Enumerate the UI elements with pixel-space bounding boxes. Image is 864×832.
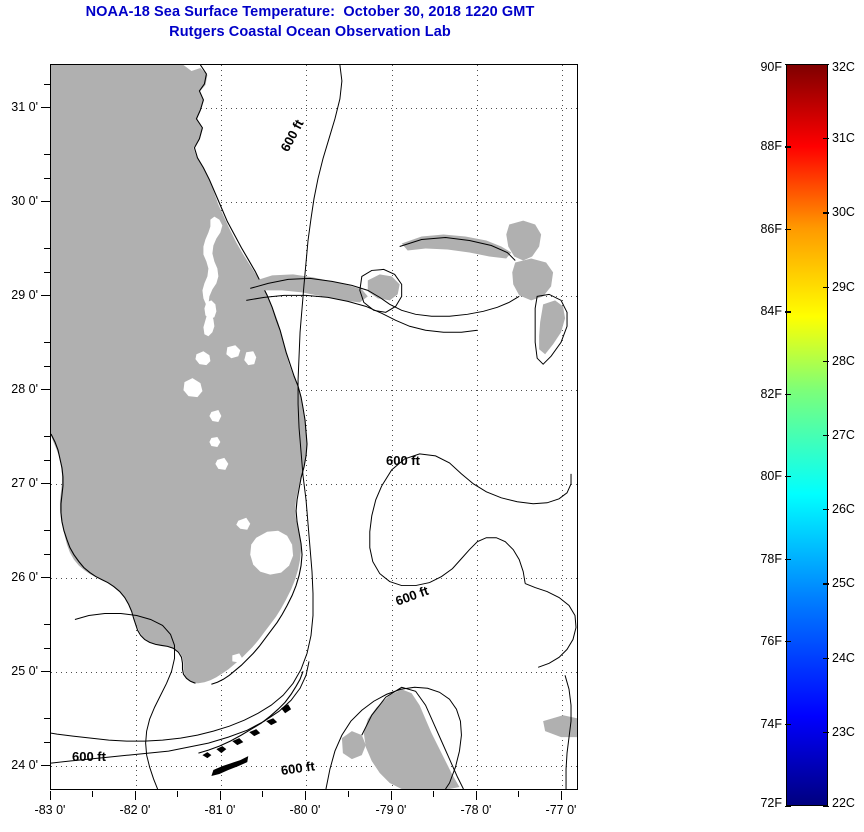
contour-600ft-bahama-east-loop bbox=[525, 584, 576, 668]
colorbar-tick-right bbox=[823, 583, 829, 584]
colorbar-tick-right bbox=[823, 361, 829, 362]
florida-landmass bbox=[51, 65, 307, 683]
colorbar-tick-left bbox=[785, 559, 791, 560]
y-axis-minor-tick bbox=[44, 84, 50, 85]
y-axis-label: 27 0' bbox=[0, 476, 38, 490]
y-axis-minor-tick bbox=[44, 554, 50, 555]
colorbar-tick-right bbox=[823, 138, 829, 139]
colorbar-label-c: 32C bbox=[832, 60, 855, 74]
y-axis-minor-tick bbox=[44, 648, 50, 649]
colorbar-label-f: 80F bbox=[760, 469, 782, 483]
contour-600ft-keys bbox=[51, 661, 309, 763]
y-axis-tick bbox=[41, 389, 50, 390]
x-axis-tick bbox=[220, 791, 221, 800]
contour-label-600ft: 600 ft bbox=[72, 749, 106, 764]
colorbar-label-c: 24C bbox=[832, 651, 855, 665]
colorbar-label-c: 31C bbox=[832, 131, 855, 145]
colorbar-tick-right bbox=[823, 806, 829, 807]
contour-600ft-bahama-west bbox=[370, 486, 525, 586]
x-axis-label: -79 0' bbox=[376, 803, 407, 817]
y-axis-label: 31 0' bbox=[0, 100, 38, 114]
x-axis-label: -82 0' bbox=[120, 803, 151, 817]
colorbar-tick-left bbox=[785, 64, 791, 65]
colorbar-label-c: 25C bbox=[832, 576, 855, 590]
x-axis-label: -80 0' bbox=[290, 803, 321, 817]
geography-layer bbox=[51, 65, 577, 789]
chart-title: NOAA-18 Sea Surface Temperature: October… bbox=[0, 2, 620, 42]
colorbar-label-f: 74F bbox=[760, 717, 782, 731]
colorbar-label-f: 76F bbox=[760, 634, 782, 648]
map-canvas bbox=[51, 65, 577, 789]
colorbar-tick-right bbox=[823, 658, 829, 659]
y-axis-minor-tick bbox=[44, 366, 50, 367]
colorbar-label-c: 27C bbox=[832, 428, 855, 442]
y-axis-label: 24 0' bbox=[0, 758, 38, 772]
y-axis-minor-tick bbox=[44, 624, 50, 625]
x-axis-minor-tick bbox=[92, 791, 93, 797]
colorbar-label-c: 29C bbox=[832, 280, 855, 294]
x-axis-minor-tick bbox=[433, 791, 434, 797]
colorbar-tick-left bbox=[785, 476, 791, 477]
title-line-1: NOAA-18 Sea Surface Temperature: October… bbox=[0, 2, 620, 22]
y-axis-minor-tick bbox=[44, 178, 50, 179]
colorbar-label-c: 28C bbox=[832, 354, 855, 368]
colorbar-tick-right bbox=[823, 64, 829, 65]
colorbar-tick-right bbox=[823, 509, 829, 510]
colorbar-tick-left bbox=[785, 229, 791, 230]
colorbar-tick-right bbox=[823, 287, 829, 288]
y-axis-label: 25 0' bbox=[0, 664, 38, 678]
colorbar-label-f: 86F bbox=[760, 222, 782, 236]
x-axis-tick bbox=[305, 791, 306, 800]
colorbar-tick-left bbox=[785, 394, 791, 395]
title-line-2: Rutgers Coastal Ocean Observation Lab bbox=[0, 22, 620, 42]
colorbar-label-c: 23C bbox=[832, 725, 855, 739]
y-axis-label: 29 0' bbox=[0, 288, 38, 302]
colorbar-label-c: 26C bbox=[832, 502, 855, 516]
new-providence bbox=[512, 258, 553, 300]
contour-label-600ft: 600 ft bbox=[386, 453, 420, 468]
y-axis-label: 26 0' bbox=[0, 570, 38, 584]
colorbar-label-c: 22C bbox=[832, 796, 855, 810]
colorbar-label-f: 88F bbox=[760, 139, 782, 153]
abaco-island bbox=[506, 221, 541, 261]
colorbar-tick-left bbox=[785, 724, 791, 725]
colorbar-tick-right bbox=[823, 435, 829, 436]
y-axis-tick bbox=[41, 577, 50, 578]
colorbar-label-f: 72F bbox=[760, 796, 782, 810]
y-axis-minor-tick bbox=[44, 272, 50, 273]
x-axis-minor-tick bbox=[262, 791, 263, 797]
y-axis-minor-tick bbox=[44, 436, 50, 437]
x-axis-label: -77 0' bbox=[546, 803, 577, 817]
y-axis-minor-tick bbox=[44, 248, 50, 249]
colorbar-tick-left bbox=[785, 806, 791, 807]
keys-scatter-detail bbox=[211, 756, 248, 776]
y-axis-tick bbox=[41, 671, 50, 672]
x-axis-tick bbox=[561, 791, 562, 800]
y-axis-minor-tick bbox=[44, 154, 50, 155]
y-axis-tick bbox=[41, 107, 50, 108]
colorbar-label-f: 84F bbox=[760, 304, 782, 318]
y-axis-tick bbox=[41, 201, 50, 202]
colorbar-tick-right bbox=[823, 732, 829, 733]
colorbar-tick-left bbox=[785, 311, 791, 312]
map-plot-area[interactable] bbox=[50, 64, 578, 790]
x-axis-tick bbox=[135, 791, 136, 800]
cuba-north-coast bbox=[364, 689, 460, 789]
colorbar-label-c: 30C bbox=[832, 205, 855, 219]
x-axis-label: -81 0' bbox=[205, 803, 236, 817]
y-axis-minor-tick bbox=[44, 460, 50, 461]
x-axis-label: -78 0' bbox=[461, 803, 492, 817]
colorbar-tick-left bbox=[785, 641, 791, 642]
y-axis-minor-tick bbox=[44, 530, 50, 531]
y-axis-minor-tick bbox=[44, 342, 50, 343]
andros-island bbox=[368, 274, 400, 300]
y-axis-label: 30 0' bbox=[0, 194, 38, 208]
x-axis-tick bbox=[391, 791, 392, 800]
y-axis-tick bbox=[41, 765, 50, 766]
y-axis-minor-tick bbox=[44, 742, 50, 743]
x-axis-minor-tick bbox=[518, 791, 519, 797]
y-axis-tick bbox=[41, 483, 50, 484]
eleuthera-island bbox=[539, 300, 565, 354]
colorbar-label-f: 90F bbox=[760, 60, 782, 74]
colorbar-tick-right bbox=[823, 212, 829, 213]
y-axis-minor-tick bbox=[44, 718, 50, 719]
x-axis-tick bbox=[50, 791, 51, 800]
y-axis-label: 28 0' bbox=[0, 382, 38, 396]
x-axis-tick bbox=[476, 791, 477, 800]
y-axis-tick bbox=[41, 295, 50, 296]
colorbar[interactable]: 90F 88F 86F 84F 82F 80F 78F 76F 74F 72F … bbox=[786, 64, 828, 806]
colorbar-tick-left bbox=[785, 146, 791, 147]
cay-sal-bank-island bbox=[543, 715, 577, 737]
x-axis-minor-tick bbox=[177, 791, 178, 797]
colorbar-label-f: 82F bbox=[760, 387, 782, 401]
colorbar-gradient bbox=[786, 64, 828, 806]
colorbar-label-f: 78F bbox=[760, 552, 782, 566]
x-axis-minor-tick bbox=[348, 791, 349, 797]
coastline-bahama-bank-south bbox=[246, 295, 477, 332]
x-axis-label: -83 0' bbox=[35, 803, 66, 817]
